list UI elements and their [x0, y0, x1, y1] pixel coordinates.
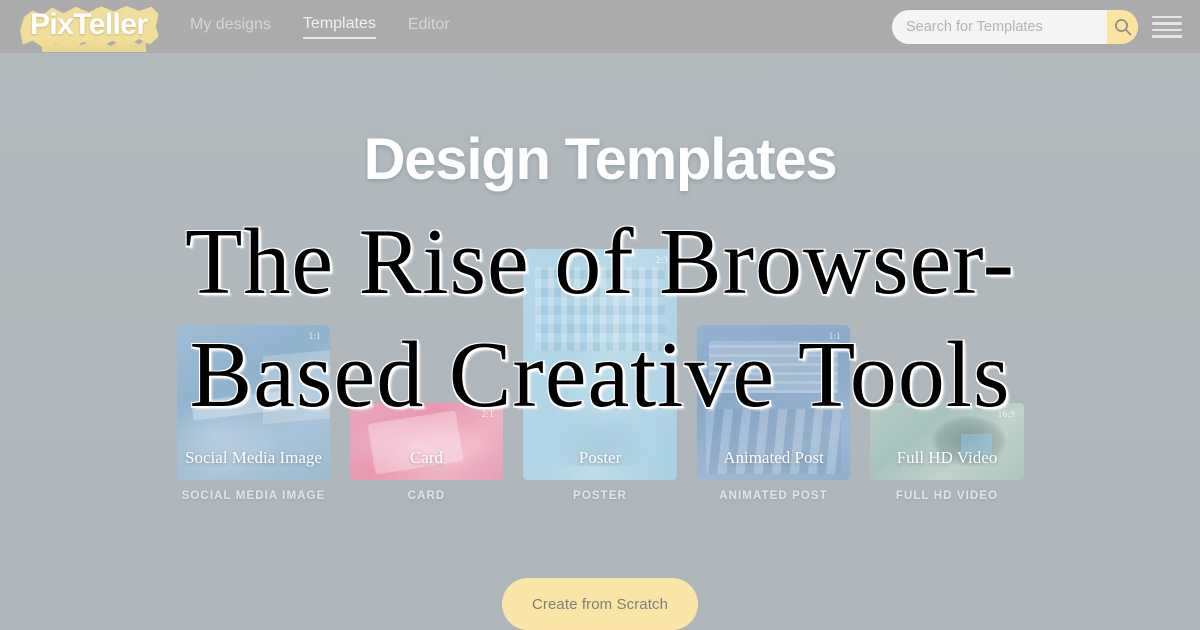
template-card-card[interactable]: 2:1 Card CARD: [350, 403, 503, 480]
create-from-scratch-button[interactable]: Create from Scratch: [502, 578, 698, 630]
template-thumbnail[interactable]: 2:3 Poster: [523, 249, 677, 480]
template-caption: POSTER: [509, 489, 691, 504]
template-name: Animated Post: [723, 447, 824, 480]
aspect-ratio-badge: 2:3: [656, 255, 668, 265]
template-card-full-hd-video[interactable]: 16:9 Full HD Video FULL HD VIDEO: [870, 403, 1024, 480]
template-caption: FULL HD VIDEO: [856, 489, 1038, 504]
template-caption: ANIMATED POST: [683, 489, 864, 504]
aspect-ratio-badge: 16:9: [998, 409, 1015, 419]
template-name: Card: [410, 447, 443, 480]
page-root: PixTeller My designs Templates Editor: [0, 0, 1200, 630]
template-name: Social Media Image: [185, 447, 322, 480]
thumbnail-photo: [523, 249, 677, 480]
template-name: Poster: [579, 447, 622, 480]
template-caption: CARD: [336, 489, 517, 504]
template-thumbnail[interactable]: 1:1 Social Media Image: [177, 325, 330, 480]
template-card-row: 1:1 Social Media Image SOCIAL MEDIA IMAG…: [0, 0, 1200, 630]
template-thumbnail[interactable]: 16:9 Full HD Video: [870, 403, 1024, 480]
aspect-ratio-badge: 2:1: [482, 409, 494, 419]
template-thumbnail[interactable]: 2:1 Card: [350, 403, 503, 480]
aspect-ratio-badge: 1:1: [309, 331, 321, 341]
template-caption: SOCIAL MEDIA IMAGE: [163, 489, 344, 504]
template-thumbnail[interactable]: 1:1 Animated Post: [697, 325, 850, 480]
aspect-ratio-badge: 1:1: [829, 331, 841, 341]
template-card-poster[interactable]: 2:3 Poster POSTER: [523, 249, 677, 480]
template-name: Full HD Video: [897, 447, 998, 480]
template-card-animated-post[interactable]: 1:1 Animated Post ANIMATED POST: [697, 325, 850, 480]
template-card-social-media-image[interactable]: 1:1 Social Media Image SOCIAL MEDIA IMAG…: [177, 325, 330, 480]
